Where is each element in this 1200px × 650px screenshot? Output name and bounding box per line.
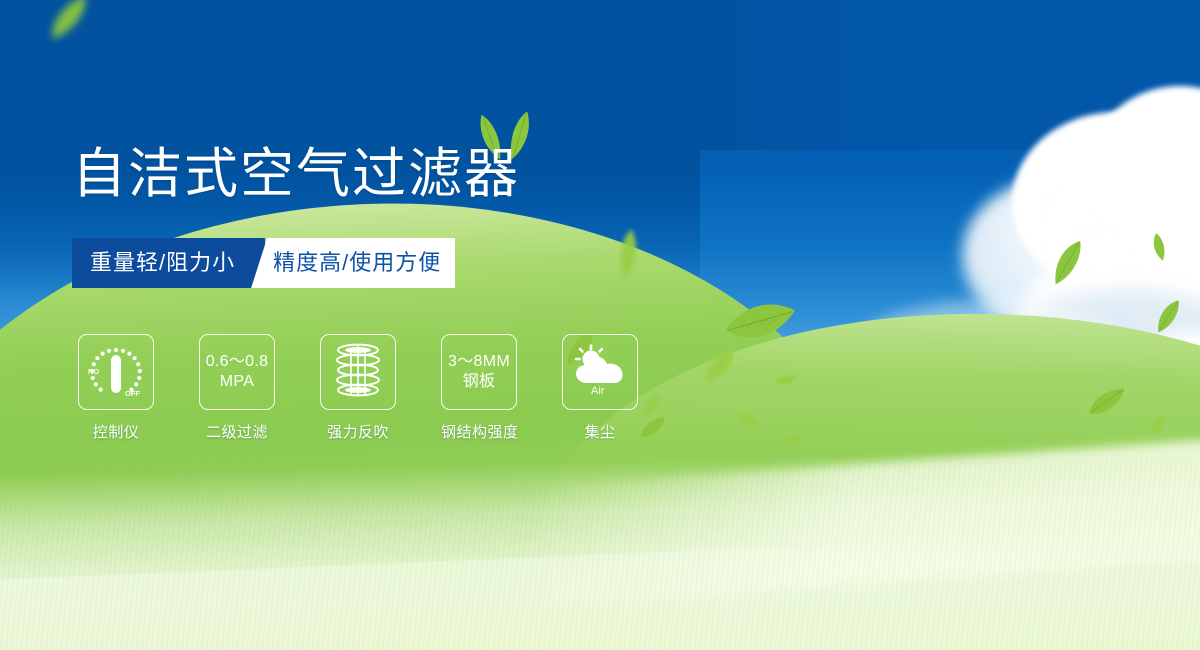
svg-text:NO: NO [88,367,99,376]
steel-plate-value: 3～8MM 钢板 [448,352,510,392]
feature-item-reverse-blow[interactable]: 强力反吹 [320,334,396,442]
grass-field [0,460,1200,650]
feature-label: 钢结构强度 [441,421,517,442]
svg-text:OFF: OFF [125,389,140,398]
pressure-value: 0.6～0.8 MPA [206,352,269,392]
subtitle-left: 重量轻/阻力小 [72,238,265,288]
cloud-air-icon: Air [562,334,638,410]
subtitle-right: 精度高/使用方便 [251,238,455,288]
feature-item-steel-strength[interactable]: 3～8MM 钢板 钢结构强度 [441,334,517,442]
product-banner: 自洁式空气过滤器 重量轻/阻力小 精度高/使用方便 [0,0,1200,650]
feature-label: 强力反吹 [320,421,396,442]
page-title: 自洁式空气过滤器 [72,143,520,205]
pressure-text-icon: 0.6～0.8 MPA [199,334,275,410]
gauge-dial-icon: NO OFF [78,334,154,410]
feature-label: 集尘 [562,421,638,442]
subtitle-bar: 重量轻/阻力小 精度高/使用方便 [72,238,460,288]
steel-plate-text-icon: 3～8MM 钢板 [441,334,517,410]
feature-item-dust-collection[interactable]: Air 集尘 [562,334,638,442]
feature-item-control-gauge[interactable]: NO OFF 控制仪 [78,334,154,442]
svg-text:Air: Air [591,385,605,397]
feature-item-secondary-filter[interactable]: 0.6～0.8 MPA 二级过滤 [199,334,275,442]
filter-cartridge-icon [320,334,396,410]
feature-list: NO OFF 控制仪 0.6～0.8 MPA 二级过滤 [78,334,638,442]
feature-label: 二级过滤 [199,421,275,442]
feature-label: 控制仪 [78,421,154,442]
grass-texture-overlay [0,460,1200,650]
